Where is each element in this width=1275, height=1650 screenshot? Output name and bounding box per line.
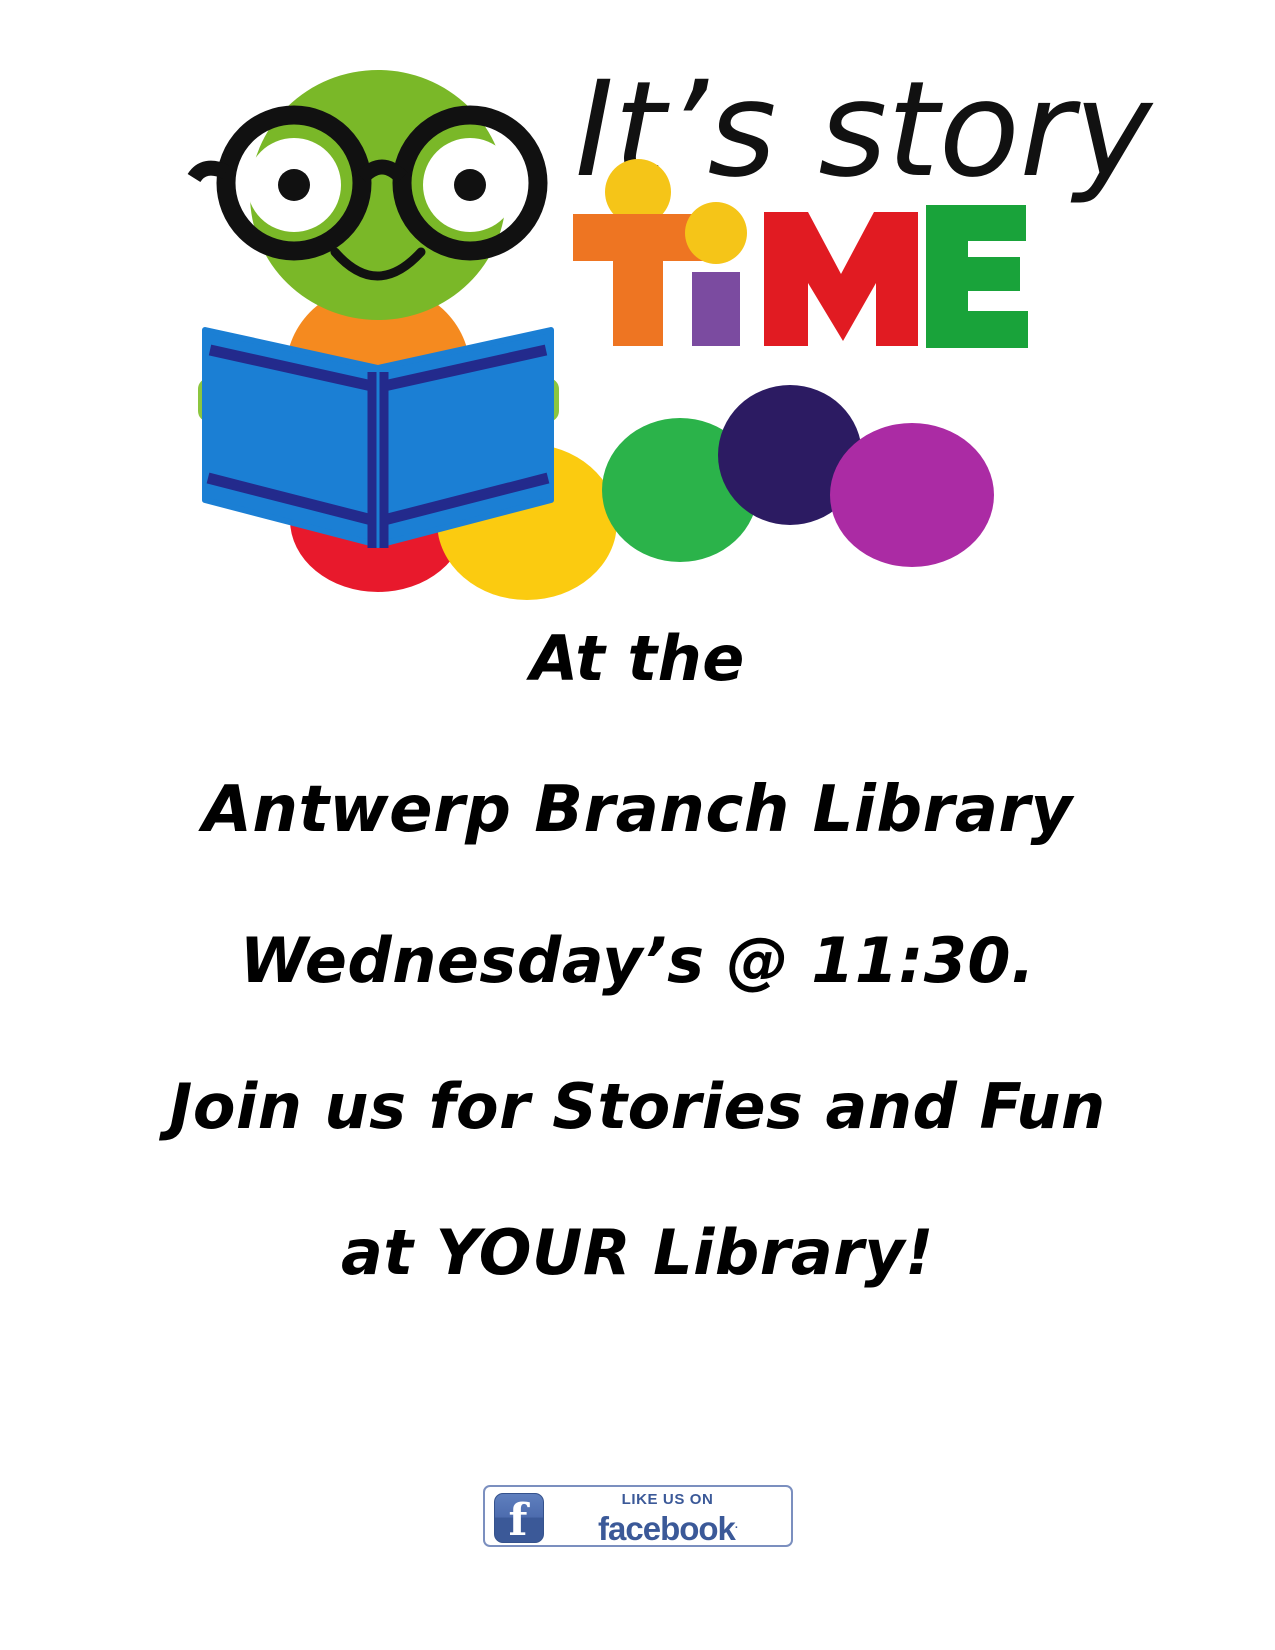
message-line-3: Wednesday’s @ 11:30. bbox=[0, 930, 1275, 992]
message-block: At the Antwerp Branch Library Wednesday’… bbox=[0, 628, 1275, 1284]
facebook-wordmark: facebook. bbox=[551, 1508, 785, 1546]
facebook-icon: f bbox=[494, 1493, 544, 1543]
facebook-badge-wrapper: f LIKE US ON facebook. bbox=[0, 1485, 1275, 1547]
facebook-text-block: LIKE US ON facebook. bbox=[551, 1491, 785, 1546]
eye-right-pupil bbox=[454, 169, 486, 201]
facebook-like-badge[interactable]: f LIKE US ON facebook. bbox=[483, 1485, 793, 1547]
story-time-clipart: It’s story bbox=[0, 0, 1275, 620]
segment-magenta bbox=[830, 423, 994, 567]
eye-left-pupil bbox=[278, 169, 310, 201]
message-line-5: at YOUR Library! bbox=[0, 1222, 1275, 1284]
logo-letter-m bbox=[764, 212, 918, 346]
message-line-2: Antwerp Branch Library bbox=[0, 778, 1275, 842]
facebook-like-label: LIKE US ON bbox=[551, 1491, 785, 1508]
facebook-trademark: . bbox=[735, 1519, 737, 1531]
facebook-wordmark-text: facebook bbox=[598, 1510, 735, 1547]
message-line-4: Join us for Stories and Fun bbox=[0, 1076, 1275, 1138]
flyer-page: It’s story At the Antwerp Branc bbox=[0, 0, 1275, 1650]
message-line-1: At the bbox=[0, 628, 1275, 690]
facebook-f-glyph: f bbox=[509, 1499, 528, 1543]
logo-letter-e bbox=[926, 205, 1028, 348]
logo-letter-i bbox=[685, 202, 747, 346]
